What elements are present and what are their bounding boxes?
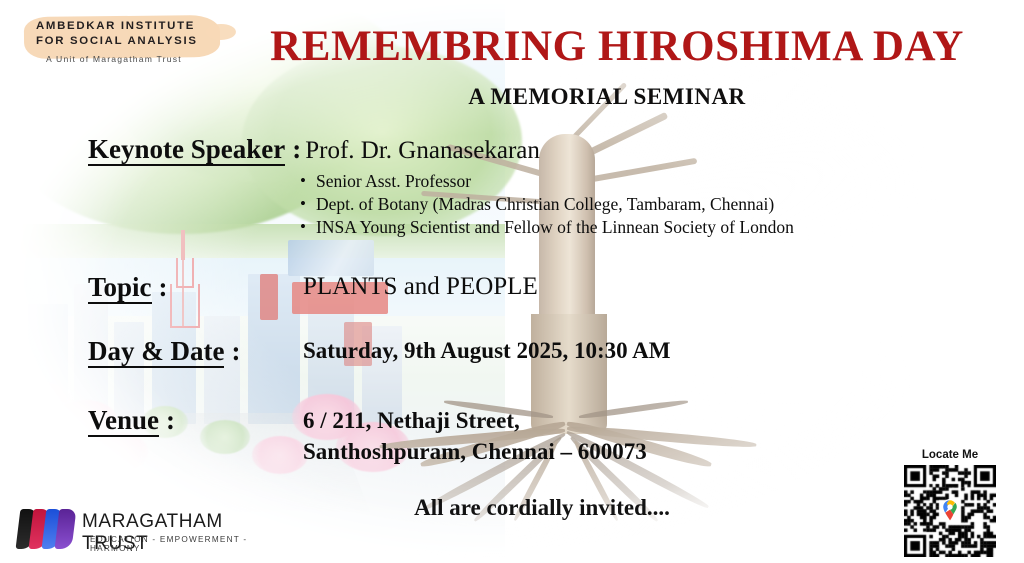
poster-subtitle: A MEMORIAL SEMINAR [0, 84, 1024, 110]
keynote-speaker-value: Prof. Dr. Gnanasekaran [305, 137, 540, 164]
topic-label: Topic [88, 273, 152, 304]
qr-label: Locate Me [898, 449, 1002, 461]
list-item: Senior Asst. Professor [300, 170, 794, 193]
qr-code[interactable] [904, 465, 996, 557]
trust-mark-icon [18, 509, 74, 549]
topic-colon: : [152, 272, 168, 302]
venue-address: 6 / 211, Nethaji Street, Santhoshpuram, … [303, 405, 647, 467]
list-item: Dept. of Botany (Madras Christian Colleg… [300, 193, 794, 216]
keynote-speaker-label: Keynote Speaker [88, 135, 285, 166]
google-maps-pin-icon [940, 499, 960, 523]
date-colon: : [224, 336, 240, 366]
venue-address-line1: 6 / 211, Nethaji Street, [303, 405, 647, 436]
venue-row: Venue: 6 / 211, Nethaji Street, Santhosh… [88, 405, 175, 437]
topic-row: Topic: PLANTS and PEOPLE [88, 272, 168, 304]
venue-colon: : [159, 405, 175, 435]
date-value: Saturday, 9th August 2025, 10:30 AM [303, 338, 670, 364]
event-poster: AMBEDKAR INSTITUTE FOR SOCIAL ANALYSIS A… [0, 0, 1024, 563]
topic-value: PLANTS and PEOPLE [303, 273, 538, 301]
date-row: Day & Date: Saturday, 9th August 2025, 1… [88, 336, 240, 368]
keynote-speaker-credentials: Senior Asst. Professor Dept. of Botany (… [300, 170, 794, 239]
venue-address-line2: Santhoshpuram, Chennai – 600073 [303, 436, 647, 467]
locate-me-qr-block[interactable]: Locate Me [898, 449, 1002, 557]
list-item: INSA Young Scientist and Fellow of the L… [300, 216, 794, 239]
trust-tagline: EDUCATION - EMPOWERMENT - HARMONY [90, 535, 268, 553]
venue-label: Venue [88, 406, 159, 437]
maragatham-trust-logo: MARAGATHAM TRUST EDUCATION - EMPOWERMENT… [18, 507, 268, 553]
poster-title: REMEMBRING HIROSHIMA DAY [0, 22, 1024, 71]
keynote-speaker-colon: : [285, 134, 301, 164]
date-label: Day & Date [88, 337, 224, 368]
keynote-speaker-row: Keynote Speaker: Prof. Dr. Gnanasekaran [88, 134, 540, 166]
